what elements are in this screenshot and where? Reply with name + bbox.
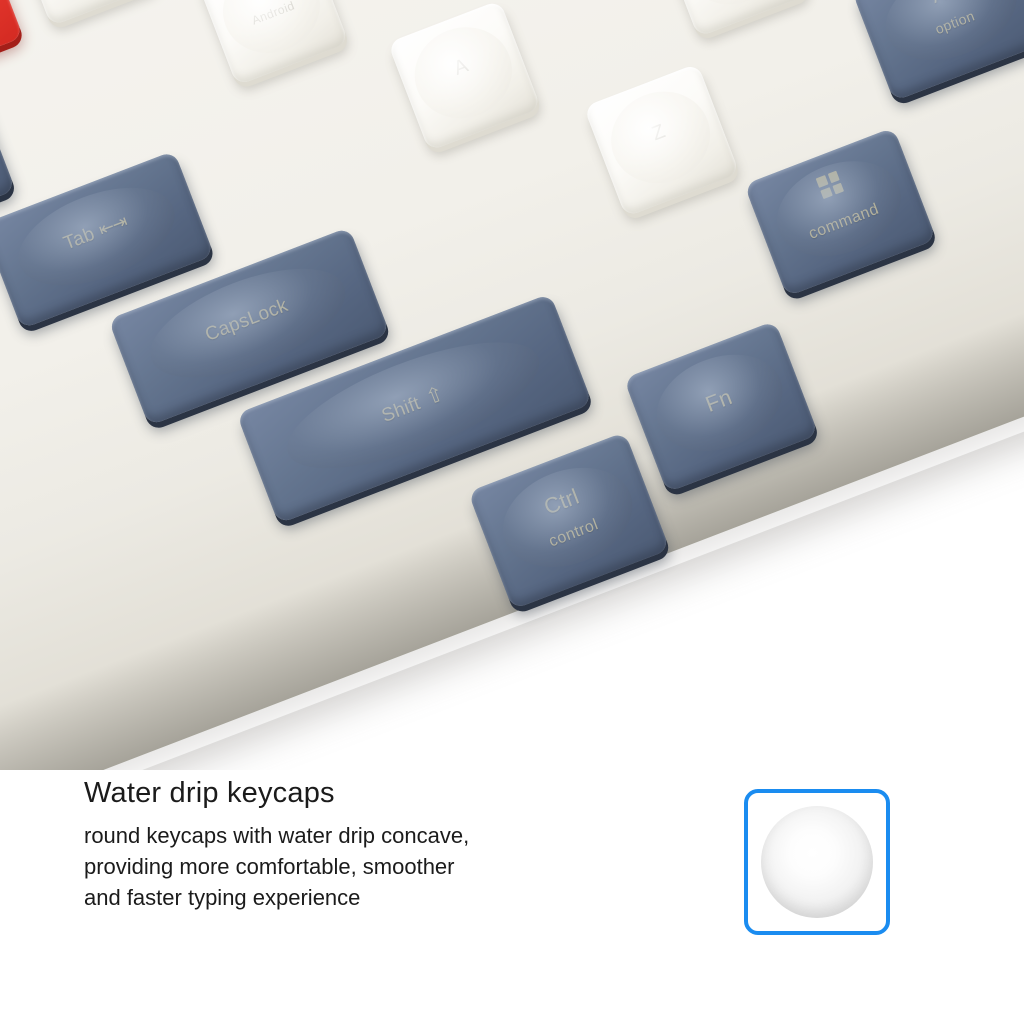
keyboard-photo: ! 1 BT1 W Win D ~ ` Q Android S <box>0 0 1024 770</box>
caption-line-3: and faster typing experience <box>84 882 684 913</box>
key-ctrl-control[interactable]: Ctrl control <box>468 432 670 610</box>
key-x[interactable]: X <box>657 0 811 37</box>
key-alt-option[interactable]: Alt option <box>852 0 1024 101</box>
key-alt-sub: option <box>873 0 1024 60</box>
concave-sphere-icon <box>761 806 873 918</box>
key-ctrl-sub: control <box>492 495 655 572</box>
key-q-sub: Android <box>215 0 332 41</box>
caption-title: Water drip keycaps <box>84 778 684 810</box>
tab-arrows-icon: ⇤⇥ <box>96 211 130 241</box>
product-feature-image: ! 1 BT1 W Win D ~ ` Q Android S <box>0 0 1024 1024</box>
key-q-main: Q <box>204 0 324 21</box>
key-fn[interactable]: Fn <box>624 321 819 493</box>
caption-block: Water drip keycaps round keycaps with wa… <box>84 778 684 914</box>
keycap-closeup-swatch <box>744 789 890 935</box>
key-1-bt1[interactable]: ! 1 BT1 <box>13 0 160 26</box>
key-z-main: Z <box>598 101 720 166</box>
key-a-main: A <box>401 35 521 99</box>
key-command-sub: command <box>766 185 922 259</box>
key-q-android[interactable]: Q Android <box>196 0 349 86</box>
windows-logo-icon <box>816 171 844 199</box>
key-esc-red[interactable] <box>0 0 23 83</box>
key-win-command[interactable]: command <box>744 127 936 296</box>
caption-line-1: round keycaps with water drip concave, <box>84 820 684 851</box>
key-fn-label: Fn <box>639 360 800 442</box>
key-capslock-label: CapsLock <box>122 264 371 377</box>
shift-arrow-icon: ⇧ <box>422 381 448 411</box>
caption-line-2: providing more comfortable, smoother <box>84 851 684 882</box>
key-tilde-sub: ` <box>0 138 3 201</box>
key-z[interactable]: Z <box>584 63 740 217</box>
key-shift-text: Shift <box>379 393 423 427</box>
keycap-field: ! 1 BT1 W Win D ~ ` Q Android S <box>0 0 1024 770</box>
key-ctrl-main: Ctrl <box>479 460 645 544</box>
key-alt-main: Alt <box>860 0 1024 35</box>
caption-body: round keycaps with water drip concave, p… <box>84 820 684 914</box>
key-tab-text: Tab <box>61 223 98 254</box>
key-tab-label: Tab⇤⇥ <box>0 186 196 280</box>
key-a[interactable]: A <box>388 0 542 151</box>
